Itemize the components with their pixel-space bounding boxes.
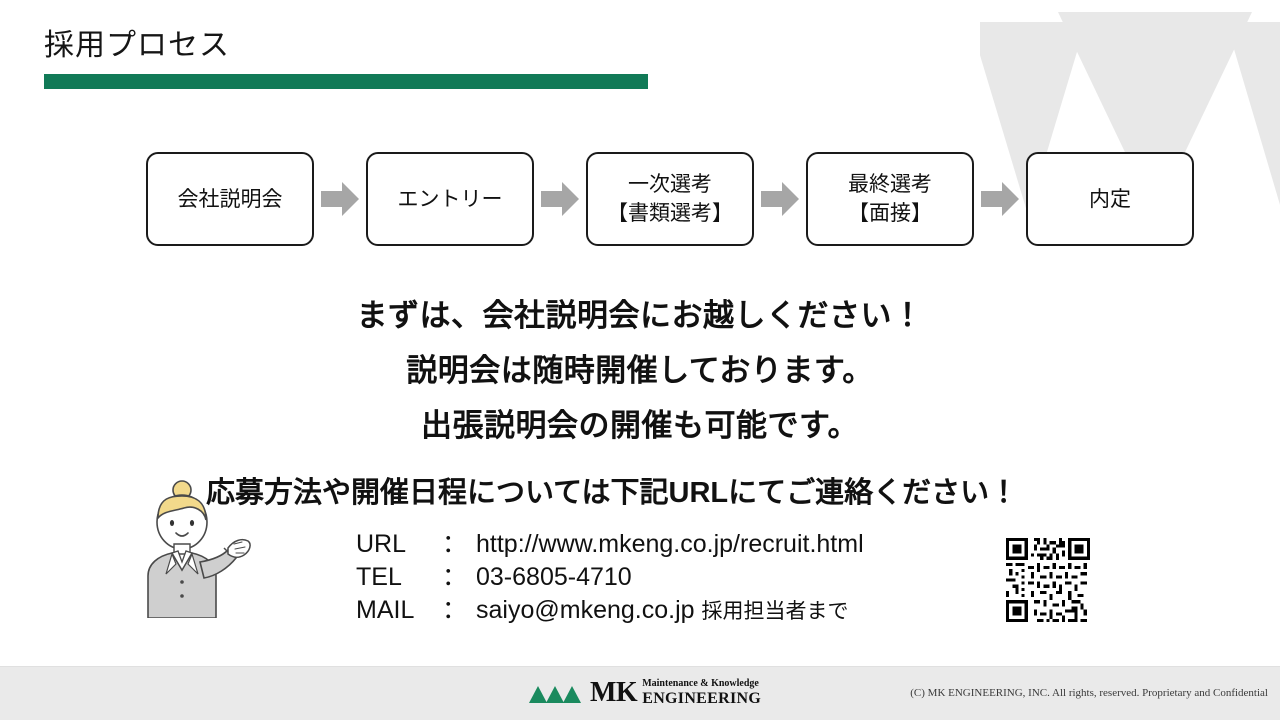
- flow-step-3-line2: 【書類選考】: [607, 199, 733, 228]
- contact-tel-text: 03-6805-4710: [476, 563, 632, 591]
- copyright-text: (C) MK ENGINEERING, INC. All rights, res…: [910, 686, 1268, 700]
- mk-wordmark: MK Maintenance & Knowledge ENGINEERING: [590, 678, 761, 707]
- message-line-2: 説明会は随時開催しております。: [0, 343, 1280, 398]
- flow-step-5: 内定: [1026, 152, 1194, 246]
- flow-step-3: 一次選考 【書類選考】: [586, 152, 754, 246]
- contact-details-table: URL ： http://www.mkeng.co.jp/recruit.htm…: [356, 528, 864, 628]
- flow-step-4-line2: 【面接】: [848, 199, 932, 228]
- contact-separator-url: ：: [442, 528, 476, 561]
- flow-arrow-2-icon: [534, 182, 586, 216]
- contact-separator-tel: ：: [442, 561, 476, 594]
- footer: MK Maintenance & Knowledge ENGINEERING (…: [0, 666, 1280, 720]
- contact-row-url: URL ： http://www.mkeng.co.jp/recruit.htm…: [356, 528, 864, 561]
- flow-step-3-line1: 一次選考: [628, 170, 712, 199]
- logo-tagline: Maintenance & Knowledge: [642, 678, 761, 690]
- footer-logo: MK Maintenance & Knowledge ENGINEERING: [529, 678, 761, 707]
- contact-label-mail: MAIL: [356, 594, 442, 628]
- contact-label-url: URL: [356, 528, 442, 561]
- mk-triangles-logo-icon: [529, 683, 581, 703]
- flow-step-5-line1: 内定: [1089, 185, 1131, 214]
- contact-value-mail[interactable]: saiyo@mkeng.co.jp 採用担当者まで: [476, 594, 864, 628]
- contact-value-tel[interactable]: 03-6805-4710: [476, 561, 864, 594]
- slide-recruitment-process: { "slide": { "title": "採用プロセス", "accent_…: [0, 0, 1280, 720]
- flow-step-2: エントリー: [366, 152, 534, 246]
- flow-arrow-1-icon: [314, 182, 366, 216]
- contact-value-url[interactable]: http://www.mkeng.co.jp/recruit.html: [476, 528, 864, 561]
- title-block: 採用プロセス: [44, 24, 744, 89]
- flow-arrow-3-icon: [754, 182, 806, 216]
- message-line-3: 出張説明会の開催も可能です。: [0, 398, 1280, 453]
- flow-step-4: 最終選考 【面接】: [806, 152, 974, 246]
- message-block: まずは、会社説明会にお越しください！ 説明会は随時開催しております。 出張説明会…: [0, 288, 1280, 453]
- flow-arrow-4-icon: [974, 182, 1026, 216]
- contact-mail-text: saiyo@mkeng.co.jp: [476, 596, 695, 624]
- contact-url-text: http://www.mkeng.co.jp/recruit.html: [476, 530, 864, 558]
- contact-mail-note: 採用担当者まで: [701, 600, 848, 623]
- flow-step-2-line1: エントリー: [398, 185, 503, 214]
- page-title: 採用プロセス: [44, 24, 744, 68]
- message-line-1: まずは、会社説明会にお越しください！: [0, 288, 1280, 343]
- flow-step-1: 会社説明会: [146, 152, 314, 246]
- process-flow: 会社説明会 エントリー 一次選考 【書類選考】 最終選考 【面接】 内定: [146, 152, 1194, 246]
- logo-words: Maintenance & Knowledge ENGINEERING: [642, 678, 761, 707]
- title-accent-rule: [44, 74, 648, 89]
- logo-name: ENGINEERING: [642, 690, 761, 707]
- flow-step-4-line1: 最終選考: [848, 170, 932, 199]
- qr-code-icon[interactable]: [1003, 535, 1093, 625]
- contact-separator-mail: ：: [442, 594, 476, 628]
- contact-row-mail: MAIL ： saiyo@mkeng.co.jp 採用担当者まで: [356, 594, 864, 628]
- contact-label-tel: TEL: [356, 561, 442, 594]
- contact-row-tel: TEL ： 03-6805-4710: [356, 561, 864, 594]
- contact-heading: 応募方法や開催日程については下記URLにてご連絡ください！: [206, 474, 1018, 512]
- flow-step-1-line1: 会社説明会: [178, 185, 283, 214]
- logo-abbr: MK: [590, 679, 637, 707]
